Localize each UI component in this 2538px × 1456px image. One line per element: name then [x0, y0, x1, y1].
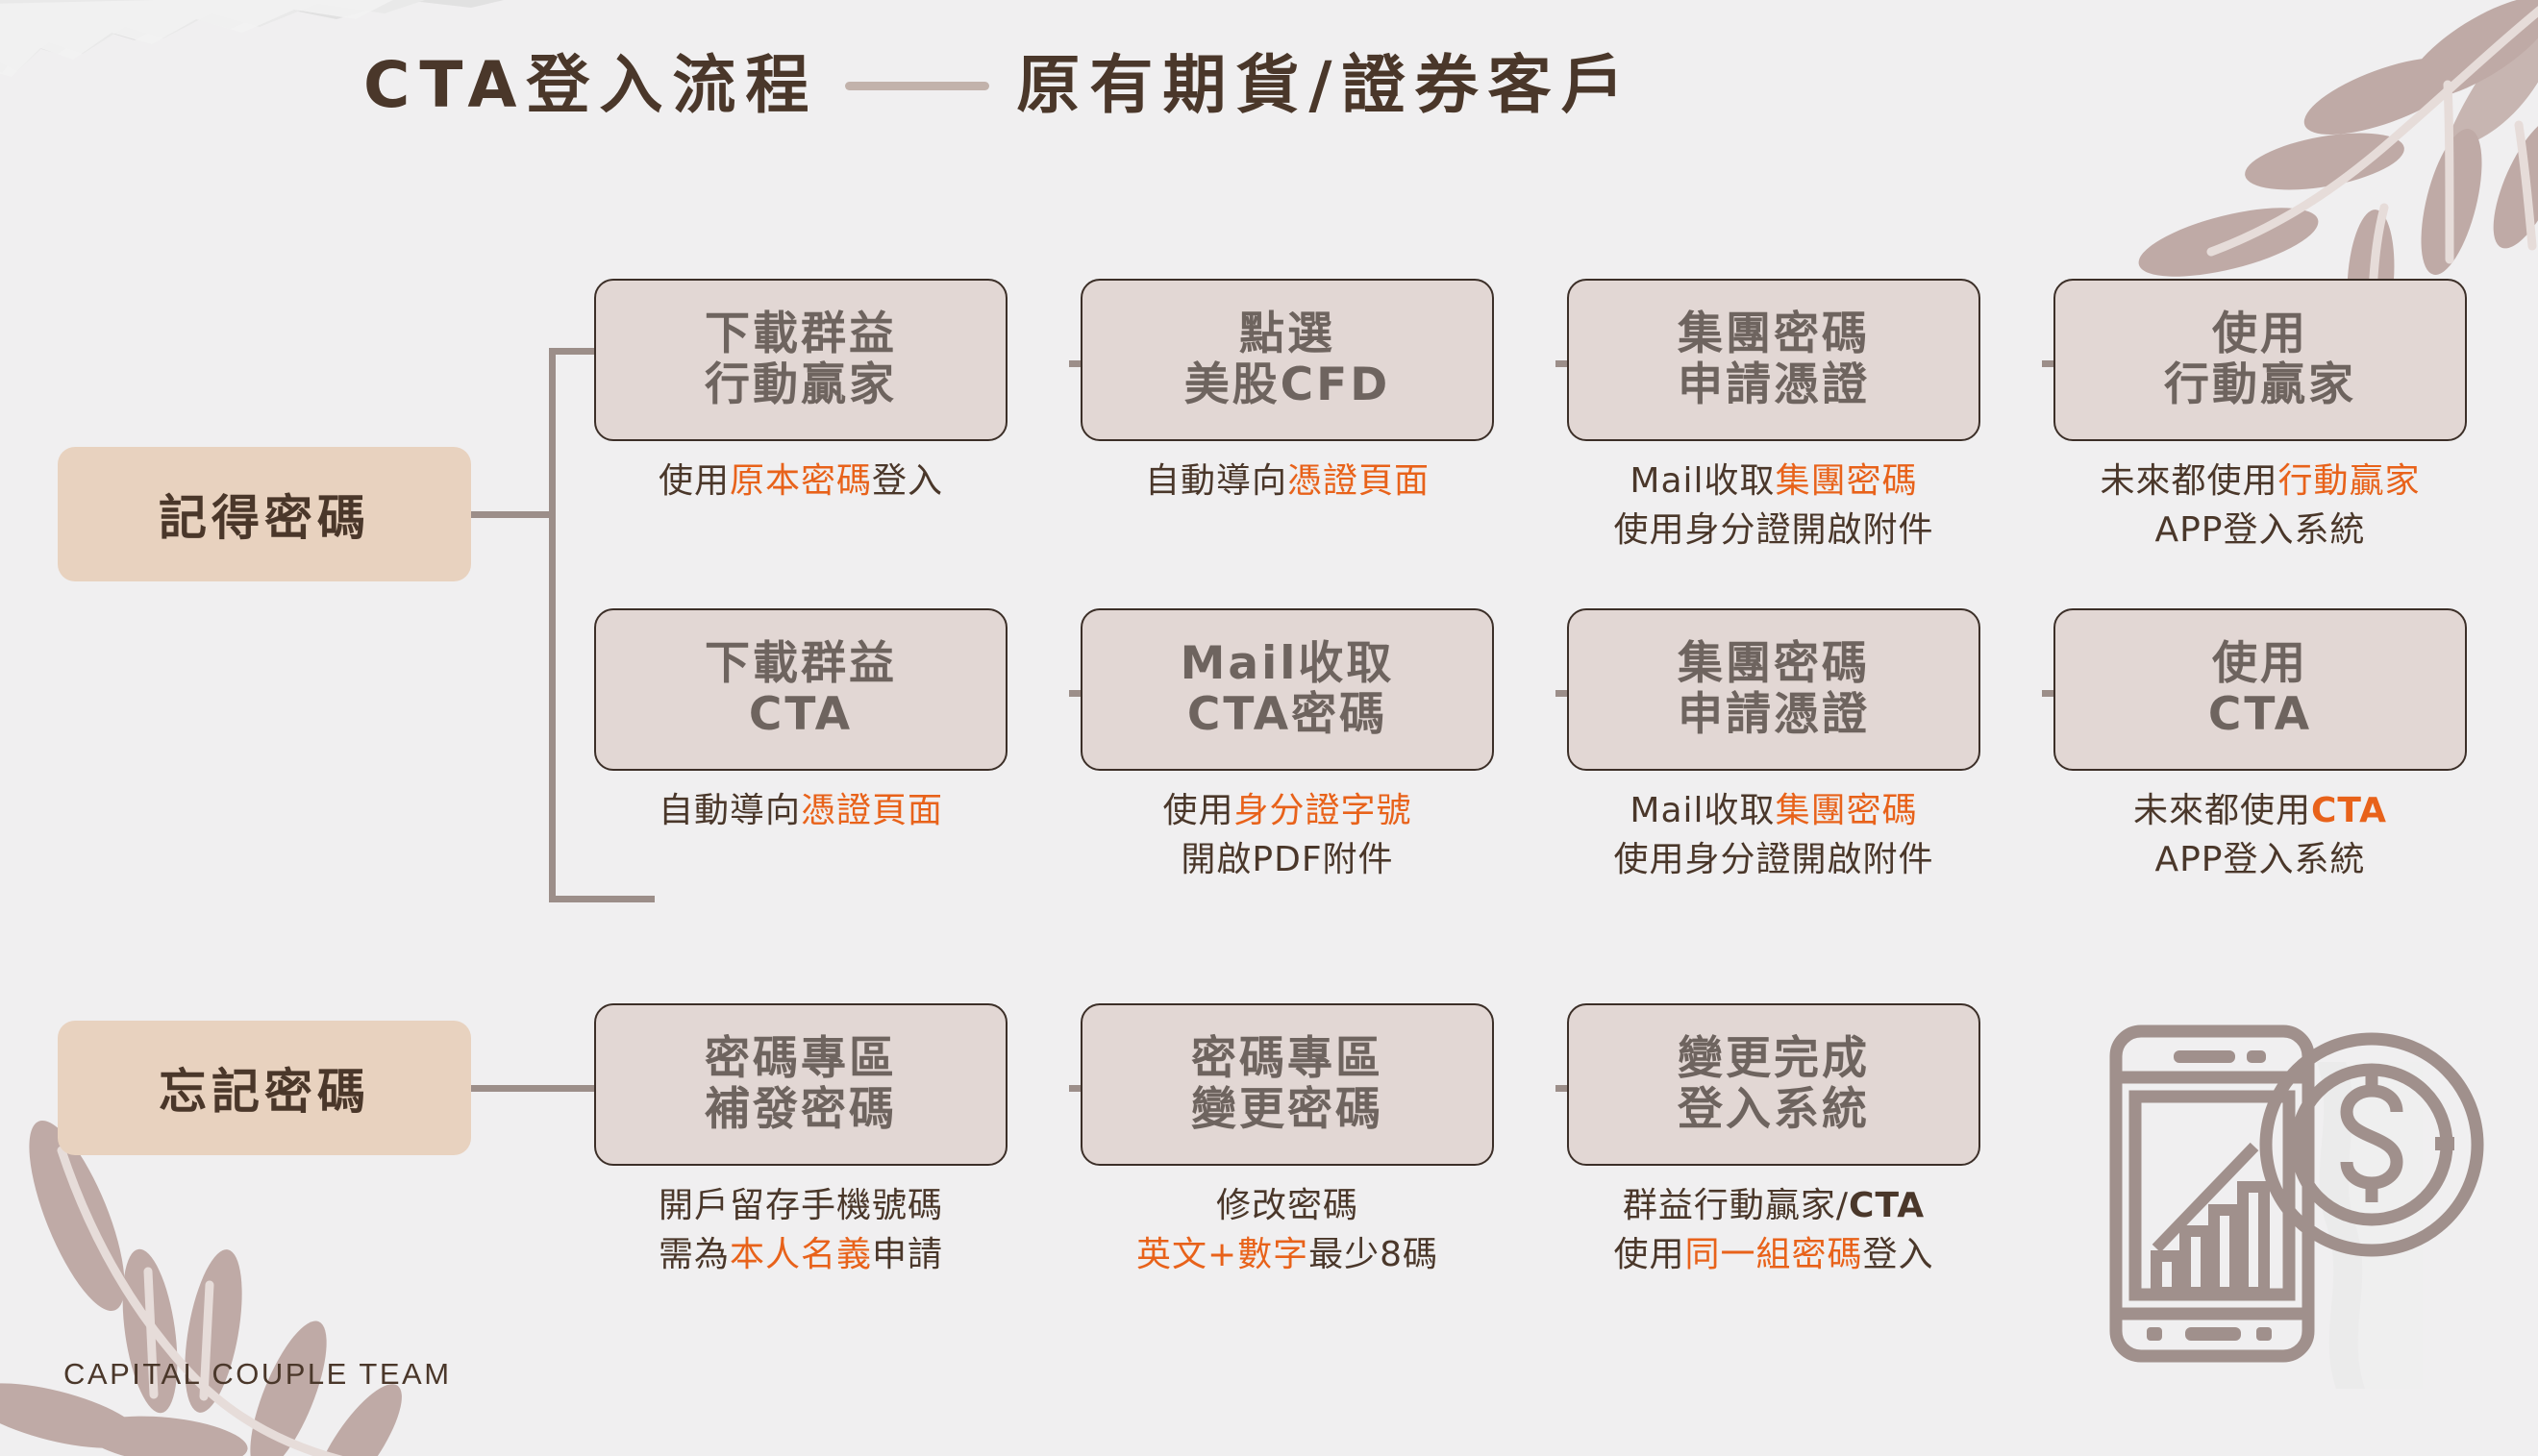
connector-remember-branch-bottom	[549, 896, 655, 902]
caption-run: 原本密碼	[730, 461, 872, 501]
step-caption: 自動導向憑證頁面	[1081, 457, 1494, 506]
caption-run: 申請	[872, 1235, 943, 1274]
step-box-line2: 申請憑證	[1678, 690, 1870, 741]
title-divider	[845, 82, 989, 90]
caption-line: 使用原本密碼登入	[594, 457, 1008, 506]
caption-line: 未來都使用CTA	[2053, 786, 2467, 835]
caption-run: 需為	[659, 1235, 730, 1274]
step-box-line2: CTA	[749, 690, 853, 741]
step-box-line2: 登入系統	[1678, 1085, 1870, 1136]
step-caption: Mail收取集團密碼使用身分證開啟附件	[1567, 786, 1980, 884]
step-caption: 未來都使用CTAAPP登入系統	[2053, 786, 2467, 884]
caption-run: 憑證頁面	[801, 791, 943, 830]
step-box-line1: 密碼專區	[1191, 1034, 1383, 1085]
step-box-line1: 使用	[2212, 639, 2308, 690]
step-box-line2: 申請憑證	[1678, 360, 1870, 411]
caption-run: 開啟PDF附件	[1181, 840, 1393, 879]
step-card: 集團密碼 申請憑證 Mail收取集團密碼使用身分證開啟附件	[1567, 608, 1980, 884]
caption-run: Mail收取	[1630, 791, 1775, 830]
step-card: 下載群益 行動贏家 使用原本密碼登入	[594, 279, 1008, 506]
caption-line: 英文+數字最少8碼	[1081, 1230, 1494, 1279]
step-card: 變更完成 登入系統 群益行動贏家/CTA使用同一組密碼登入	[1567, 1003, 1980, 1279]
step-card: 密碼專區 補發密碼 開戶留存手機號碼需為本人名義申請	[594, 1003, 1008, 1279]
step-box-line2: 變更密碼	[1191, 1085, 1383, 1136]
step-box[interactable]: 集團密碼 申請憑證	[1567, 608, 1980, 771]
step-box-line2: CTA	[2208, 690, 2312, 741]
caption-run: 修改密碼	[1216, 1186, 1358, 1225]
step-box[interactable]: 使用 CTA	[2053, 608, 2467, 771]
caption-run: 登入	[1863, 1235, 1934, 1274]
connector-remember-stem	[471, 511, 556, 518]
page-title: CTA登入流程 原有期貨/證券客戶	[363, 54, 1634, 117]
step-caption: 群益行動贏家/CTA使用同一組密碼登入	[1567, 1181, 1980, 1279]
caption-line: 自動導向憑證頁面	[594, 786, 1008, 835]
step-caption: 使用身分證字號開啟PDF附件	[1081, 786, 1494, 884]
step-box-line2: 行動贏家	[705, 360, 897, 411]
step-box[interactable]: 點選 美股CFD	[1081, 279, 1494, 441]
step-box[interactable]: 密碼專區 補發密碼	[594, 1003, 1008, 1166]
caption-run: 英文+數字	[1136, 1235, 1308, 1274]
caption-line: 使用身分證開啟附件	[1567, 506, 1980, 555]
caption-line: 需為本人名義申請	[594, 1230, 1008, 1279]
caption-run: 使用	[1613, 1235, 1684, 1274]
step-box-line1: 密碼專區	[705, 1034, 897, 1085]
step-box[interactable]: 使用 行動贏家	[2053, 279, 2467, 441]
step-box-line1: 變更完成	[1678, 1034, 1870, 1085]
caption-run: 本人名義	[730, 1235, 872, 1274]
caption-line: 修改密碼	[1081, 1181, 1494, 1230]
caption-line: 使用身分證字號	[1081, 786, 1494, 835]
caption-line: 自動導向憑證頁面	[1081, 457, 1494, 506]
step-box-line1: 點選	[1239, 309, 1335, 360]
caption-run: CTA	[2311, 791, 2387, 830]
step-box-line2: 行動贏家	[2164, 360, 2356, 411]
connector-remember-spine	[549, 348, 556, 902]
step-card: 密碼專區 變更密碼 修改密碼英文+數字最少8碼	[1081, 1003, 1494, 1279]
caption-run: 使用身分證開啟附件	[1613, 510, 1933, 550]
step-box-line1: 下載群益	[705, 309, 897, 360]
caption-line: APP登入系統	[2053, 835, 2467, 884]
step-card: Mail收取 CTA密碼 使用身分證字號開啟PDF附件	[1081, 608, 1494, 884]
caption-run: 使用身分證開啟附件	[1613, 840, 1933, 879]
caption-run: 同一組密碼	[1684, 1235, 1862, 1274]
smartphone-chart-money-icon	[2091, 1004, 2495, 1370]
step-box[interactable]: 集團密碼 申請憑證	[1567, 279, 1980, 441]
caption-run: 未來都使用	[2133, 791, 2311, 830]
caption-run: 自動導向	[1145, 461, 1287, 501]
step-card: 集團密碼 申請憑證 Mail收取集團密碼使用身分證開啟附件	[1567, 279, 1980, 555]
caption-run: 集團密碼	[1776, 791, 1918, 830]
step-box[interactable]: 下載群益 CTA	[594, 608, 1008, 771]
footer-brand: CAPITAL COUPLE TEAM	[63, 1357, 452, 1392]
caption-run: 登入	[872, 461, 943, 501]
caption-run: 憑證頁面	[1287, 461, 1430, 501]
step-box[interactable]: 密碼專區 變更密碼	[1081, 1003, 1494, 1166]
caption-line: APP登入系統	[2053, 506, 2467, 555]
step-card: 使用 行動贏家 未來都使用行動贏家APP登入系統	[2053, 279, 2467, 555]
caption-line: 開啟PDF附件	[1081, 835, 1494, 884]
step-card: 點選 美股CFD 自動導向憑證頁面	[1081, 279, 1494, 506]
caption-run: APP登入系統	[2154, 840, 2365, 879]
group-label-remember[interactable]: 記得密碼	[58, 447, 471, 581]
step-box-line2: 補發密碼	[705, 1085, 897, 1136]
step-caption: Mail收取集團密碼使用身分證開啟附件	[1567, 457, 1980, 555]
caption-line: 使用同一組密碼登入	[1567, 1230, 1980, 1279]
caption-run: 開戶留存手機號碼	[659, 1186, 943, 1225]
caption-line: Mail收取集團密碼	[1567, 457, 1980, 506]
caption-run: APP登入系統	[2154, 510, 2365, 550]
step-box-line1: Mail收取	[1181, 639, 1395, 690]
step-box-line1: 下載群益	[705, 639, 897, 690]
caption-run: 行動贏家	[2278, 461, 2421, 501]
caption-run: 使用	[659, 461, 730, 501]
slide-canvas: CTA登入流程 原有期貨/證券客戶 記得密碼 忘記密碼 下載群益 行動贏家 使用…	[0, 0, 2538, 1427]
step-caption: 自動導向憑證頁面	[594, 786, 1008, 835]
caption-run: 集團密碼	[1776, 461, 1918, 501]
step-box-line1: 使用	[2212, 309, 2308, 360]
caption-line: 未來都使用行動贏家	[2053, 457, 2467, 506]
step-box[interactable]: Mail收取 CTA密碼	[1081, 608, 1494, 771]
caption-run: 使用	[1162, 791, 1233, 830]
step-card: 使用 CTA 未來都使用CTAAPP登入系統	[2053, 608, 2467, 884]
step-box[interactable]: 下載群益 行動贏家	[594, 279, 1008, 441]
step-box-line2: 美股CFD	[1184, 360, 1391, 411]
step-caption: 使用原本密碼登入	[594, 457, 1008, 506]
caption-line: 群益行動贏家/CTA	[1567, 1181, 1980, 1230]
page-title-main: CTA登入流程	[363, 54, 818, 117]
caption-run: 未來都使用	[2100, 461, 2277, 501]
group-label-forgot[interactable]: 忘記密碼	[58, 1021, 471, 1155]
caption-run: 最少8碼	[1308, 1235, 1438, 1274]
caption-run: Mail收取	[1630, 461, 1775, 501]
caption-run: 身分證字號	[1234, 791, 1412, 830]
step-caption: 修改密碼英文+數字最少8碼	[1081, 1181, 1494, 1279]
step-box-line1: 集團密碼	[1678, 639, 1870, 690]
caption-line: Mail收取集團密碼	[1567, 786, 1980, 835]
caption-run: 自動導向	[659, 791, 801, 830]
page-title-sub: 原有期貨/證券客戶	[1016, 54, 1633, 117]
step-caption: 開戶留存手機號碼需為本人名義申請	[594, 1181, 1008, 1279]
step-caption: 未來都使用行動贏家APP登入系統	[2053, 457, 2467, 555]
caption-line: 使用身分證開啟附件	[1567, 835, 1980, 884]
caption-run: 群益行動贏家/	[1623, 1186, 1849, 1225]
step-box[interactable]: 變更完成 登入系統	[1567, 1003, 1980, 1166]
step-box-line1: 集團密碼	[1678, 309, 1870, 360]
step-box-line2: CTA密碼	[1187, 690, 1387, 741]
caption-line: 開戶留存手機號碼	[594, 1181, 1008, 1230]
caption-run: CTA	[1849, 1186, 1925, 1225]
step-card: 下載群益 CTA 自動導向憑證頁面	[594, 608, 1008, 835]
